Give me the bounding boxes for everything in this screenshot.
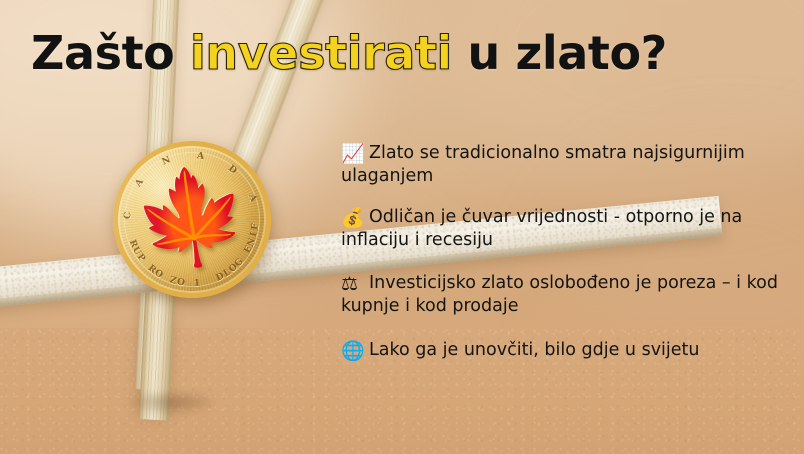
- list-item-label: Zlato se tradicionalno smatra najsigurni…: [341, 143, 745, 186]
- coin-face: C A N A D A FINE GOLD 1 OZ OR PUR 🍁: [103, 131, 281, 308]
- poster-canvas: C A N A D A FINE GOLD 1 OZ OR PUR 🍁 Zašt…: [0, 0, 804, 454]
- easel-foot-shadow: [128, 394, 214, 414]
- balance-scales-icon: ⚖: [341, 275, 369, 294]
- list-item: ⚖Investicijsko zlato oslobođeno je porez…: [341, 272, 779, 319]
- list-item-label: Investicijsko zlato oslobođeno je poreza…: [341, 273, 778, 316]
- page-title: Zašto investirati u zlato?: [31, 28, 667, 79]
- chart-uptrend-icon: 📈: [341, 145, 369, 164]
- list-item: 📈Zlato se tradicionalno smatra najsigurn…: [341, 142, 779, 189]
- list-item-label: Lako ga je unovčiti, bilo gdje u svijetu: [369, 340, 700, 360]
- globe-stand-icon: 🌐: [341, 342, 369, 361]
- title-part-1: Zašto: [31, 26, 190, 80]
- money-bag-icon: 💰: [341, 209, 369, 228]
- list-item: 💰Odličan je čuvar vrijednosti - otporno …: [341, 206, 779, 253]
- benefits-list: 📈Zlato se tradicionalno smatra najsigurn…: [341, 142, 779, 362]
- list-item: 🌐Lako ga je unovčiti, bilo gdje u svijet…: [341, 339, 779, 362]
- list-item-label: Odličan je čuvar vrijednosti - otporno j…: [341, 207, 742, 250]
- title-highlight: investirati: [190, 26, 452, 80]
- gold-coin: C A N A D A FINE GOLD 1 OZ OR PUR 🍁: [113, 141, 274, 301]
- title-part-2: u zlato?: [452, 26, 667, 80]
